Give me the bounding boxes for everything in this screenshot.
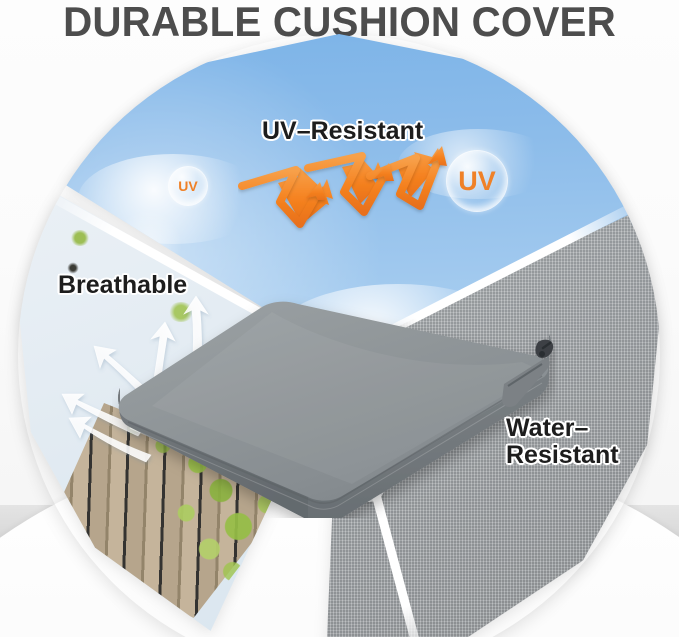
label-uv-resistant: UV–Resistant: [262, 118, 423, 145]
water-droplet-icon: [334, 406, 356, 423]
water-droplet-icon: [353, 478, 386, 504]
uv-badge-small: UV: [168, 166, 208, 206]
water-droplet-icon: [318, 438, 331, 449]
uv-badge-small-text: UV: [178, 178, 197, 194]
label-breathable: Breathable: [58, 272, 187, 299]
leaf-sprig-icon: [70, 230, 90, 246]
uv-badge-large-text: UV: [458, 166, 496, 197]
product-infographic: DURABLE CUSHION COVER: [0, 0, 679, 637]
label-water-resistant: Water– Resistant: [506, 415, 619, 469]
water-droplet-icon: [376, 346, 458, 408]
uv-badge-large: UV: [446, 150, 508, 212]
leaf-sprig-icon: [168, 302, 194, 322]
